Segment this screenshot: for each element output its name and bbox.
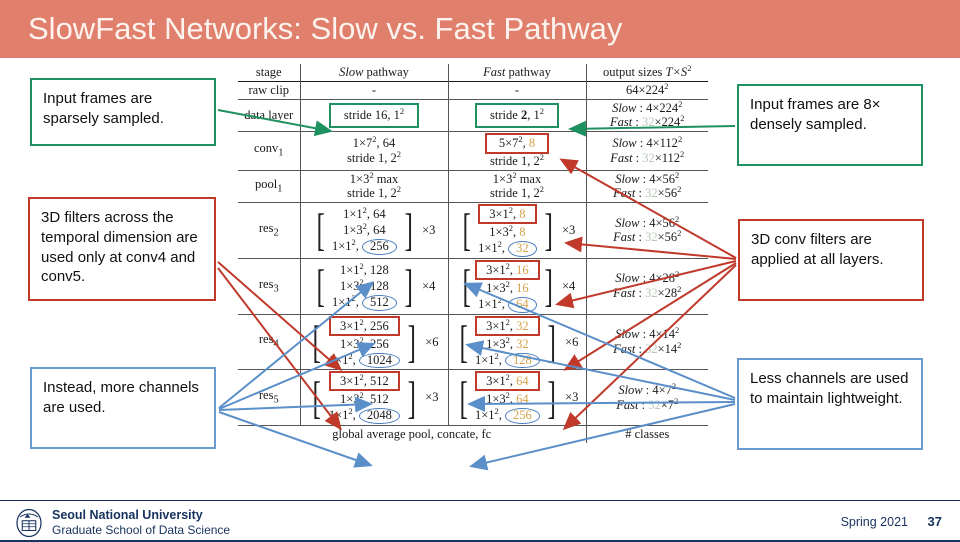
stage-label: res bbox=[259, 277, 274, 291]
stage-label: res bbox=[259, 221, 274, 235]
red-box-fast-first-line: 3×12, 16 bbox=[475, 260, 540, 280]
fast-block-line: 1×32, 32 bbox=[475, 336, 540, 352]
out-res3: Slow : 4×282Fast : 32×282 bbox=[586, 258, 708, 314]
fast-residual-block: [3×12, 641×32, 641×12, 256]×3 bbox=[451, 371, 584, 424]
slow-block-line: 1×12, 2048 bbox=[329, 407, 400, 424]
block-channels: 32 bbox=[516, 319, 529, 333]
fast-block-rows: 3×12, 81×32, 81×12, 32 bbox=[478, 204, 537, 257]
slow-residual-block: [3×12, 5121×32, 5121×12, 2048]×3 bbox=[303, 371, 446, 424]
fast-block-line: 1×32, 64 bbox=[475, 391, 540, 407]
fast-block-line: 1×32, 8 bbox=[478, 224, 537, 240]
slow-block-line: 1×12, 256 bbox=[332, 238, 397, 255]
fast-block-multiplier: ×6 bbox=[563, 335, 578, 350]
stage-res2: res2 bbox=[238, 203, 300, 259]
slow-block-line: 1×32, 256 bbox=[329, 336, 400, 352]
bracket-left-icon: [ bbox=[462, 268, 470, 304]
slow-res2: [1×12, 641×32, 641×12, 256]×3 bbox=[300, 203, 448, 259]
stage-subscript: 2 bbox=[273, 227, 278, 238]
green-box-slow-stride: stride 16, 12 bbox=[329, 103, 419, 128]
footer-university: Seoul National University bbox=[52, 508, 203, 522]
out-fast-line: Fast : 32×282 bbox=[589, 286, 707, 301]
block-channels: 64 bbox=[516, 374, 529, 388]
block-channels: 128 bbox=[370, 263, 389, 277]
fast-block-multiplier: ×3 bbox=[563, 390, 578, 405]
out-fast-line: Fast : 32×72 bbox=[589, 398, 707, 413]
callout-dense-sampling: Input frames are 8× densely sampled. bbox=[737, 84, 923, 166]
fast-residual-block: [3×12, 321×32, 321×12, 128]×6 bbox=[451, 316, 584, 369]
bracket-right-icon: ] bbox=[544, 268, 552, 304]
fast-res5: [3×12, 641×32, 641×12, 256]×3 bbox=[448, 370, 586, 426]
block-channels: 128 bbox=[370, 279, 389, 293]
fast-block-rows: 3×12, 321×32, 321×12, 128 bbox=[475, 316, 540, 369]
stage-subscript: 4 bbox=[273, 339, 278, 350]
slow-res5: [3×12, 5121×32, 5121×12, 2048]×3 bbox=[300, 370, 448, 426]
block-channels: 16 bbox=[516, 281, 529, 295]
stage-res5: res5 bbox=[238, 370, 300, 426]
slowfast-architecture-table: stage Slow pathway Fast pathway output s… bbox=[238, 64, 708, 443]
slow-raw-clip: - bbox=[300, 81, 448, 99]
slow-block-multiplier: ×3 bbox=[420, 223, 435, 238]
red-box-fast-first-line: 3×12, 8 bbox=[478, 204, 536, 224]
fast-residual-block: [3×12, 81×32, 81×12, 32]×3 bbox=[451, 204, 584, 257]
slow-res4: [3×12, 2561×32, 2561×12, 1024]×6 bbox=[300, 314, 448, 370]
out-slow-line: Slow : 4×142 bbox=[589, 327, 707, 342]
slow-block-line: 1×32, 64 bbox=[332, 222, 397, 238]
slow-block-rows: 1×12, 641×32, 641×12, 256 bbox=[332, 206, 397, 255]
fast-block-line: 1×12, 128 bbox=[475, 352, 540, 369]
out-fast-line: Fast : 32×562 bbox=[589, 230, 707, 245]
fast-residual-block: [3×12, 161×32, 161×12, 64]×4 bbox=[451, 260, 584, 313]
bracket-left-icon: [ bbox=[316, 268, 324, 304]
bracket-left-icon: [ bbox=[313, 324, 321, 360]
out-slow-line: Slow : 4×562 bbox=[589, 216, 707, 231]
fast-block-line: 3×12, 16 bbox=[478, 260, 537, 280]
channel-oval: 256 bbox=[505, 408, 540, 424]
fast-block-line: 3×12, 8 bbox=[478, 204, 537, 224]
bracket-right-icon: ] bbox=[544, 212, 552, 248]
fast-block-line: 1×32, 16 bbox=[478, 280, 537, 296]
red-box-slow-first-line: 3×12, 512 bbox=[329, 371, 400, 391]
table-row-conv1: conv1 1×72, 64 stride 1, 22 5×72, 8 stri… bbox=[238, 132, 708, 171]
slow-block-multiplier: ×3 bbox=[423, 390, 438, 405]
page-title: SlowFast Networks: Slow vs. Fast Pathway bbox=[0, 11, 622, 47]
table-row-res5: res5 [3×12, 5121×32, 5121×12, 2048]×3 [3… bbox=[238, 370, 708, 426]
bracket-left-icon: [ bbox=[459, 380, 467, 416]
callout-less-channels: Less channels are used to maintain light… bbox=[737, 358, 923, 450]
channel-oval: 128 bbox=[505, 353, 540, 369]
out-res2: Slow : 4×562Fast : 32×562 bbox=[586, 203, 708, 259]
fast-block-line: 1×12, 32 bbox=[478, 240, 537, 257]
block-channels: 64 bbox=[373, 207, 386, 221]
fast-res4: [3×12, 321×32, 321×12, 128]×6 bbox=[448, 314, 586, 370]
bracket-right-icon: ] bbox=[407, 324, 415, 360]
channel-oval: 32 bbox=[508, 241, 537, 257]
channel-oval: 2048 bbox=[359, 408, 400, 424]
stage-data-layer: data layer bbox=[238, 99, 300, 132]
red-box-slow-first-line: 3×12, 256 bbox=[329, 316, 400, 336]
stage-raw-clip: raw clip bbox=[238, 81, 300, 99]
stage-res3: res3 bbox=[238, 258, 300, 314]
fast-res2: [3×12, 81×32, 81×12, 32]×3 bbox=[448, 203, 586, 259]
footer-school: Graduate School of Data Science bbox=[52, 523, 230, 537]
table-row-raw-clip: raw clip - - 64×2242 bbox=[238, 81, 708, 99]
table-header-row: stage Slow pathway Fast pathway output s… bbox=[238, 64, 708, 81]
slow-conv1: 1×72, 64 stride 1, 22 bbox=[300, 132, 448, 171]
slide-footer: Seoul National University Graduate Schoo… bbox=[0, 500, 960, 542]
snu-logo-icon bbox=[14, 508, 44, 538]
slow-data-layer: stride 16, 12 bbox=[300, 99, 448, 132]
table-row-res3: res3 [1×12, 1281×32, 1281×12, 512]×4 [3×… bbox=[238, 258, 708, 314]
slow-res3: [1×12, 1281×32, 1281×12, 512]×4 bbox=[300, 258, 448, 314]
fast-block-line: 1×12, 64 bbox=[478, 296, 537, 313]
slow-residual-block: [3×12, 2561×32, 2561×12, 1024]×6 bbox=[303, 316, 446, 369]
slow-block-line: 1×32, 512 bbox=[329, 391, 400, 407]
bracket-left-icon: [ bbox=[462, 212, 470, 248]
slow-block-line: 3×12, 512 bbox=[329, 371, 400, 391]
footer-term: Spring 2021 bbox=[841, 515, 908, 529]
green-box-fast-stride: stride 2, 12 bbox=[475, 103, 559, 128]
callout-3d-conv-all-layers: 3D conv filters are applied at all layer… bbox=[738, 219, 924, 301]
block-channels: 32 bbox=[516, 337, 529, 351]
slide-title-bar: SlowFast Networks: Slow vs. Fast Pathway bbox=[0, 0, 960, 58]
stage-subscript: 3 bbox=[273, 283, 278, 294]
callout-3d-filters-temporal: 3D filters across the temporal dimension… bbox=[28, 197, 216, 301]
slow-block-line: 1×12, 128 bbox=[332, 262, 397, 278]
stage-res4: res4 bbox=[238, 314, 300, 370]
slow-block-rows: 3×12, 5121×32, 5121×12, 2048 bbox=[329, 371, 400, 424]
slow-block-line: 1×12, 1024 bbox=[329, 352, 400, 369]
header-fast: Fast pathway bbox=[448, 64, 586, 81]
channel-oval: 256 bbox=[362, 239, 397, 255]
slow-pool1: 1×32 max stride 1, 22 bbox=[300, 170, 448, 203]
bracket-right-icon: ] bbox=[407, 380, 415, 416]
out-pool1: Slow : 4×562 Fast : 32×562 bbox=[586, 170, 708, 203]
bracket-left-icon: [ bbox=[316, 212, 324, 248]
header-stage: stage bbox=[238, 64, 300, 81]
out-slow-line: Slow : 4×72 bbox=[589, 383, 707, 398]
bracket-left-icon: [ bbox=[313, 380, 321, 416]
fast-res3: [3×12, 161×32, 161×12, 64]×4 bbox=[448, 258, 586, 314]
channel-oval: 512 bbox=[362, 295, 397, 311]
fast-block-line: 1×12, 256 bbox=[475, 407, 540, 424]
block-channels: 8 bbox=[519, 207, 525, 221]
out-res5: Slow : 4×72Fast : 32×72 bbox=[586, 370, 708, 426]
stage-label: res bbox=[259, 332, 274, 346]
fast-raw-clip: - bbox=[448, 81, 586, 99]
table-row-summary: global average pool, concate, fc # class… bbox=[238, 426, 708, 443]
block-channels: 64 bbox=[516, 392, 529, 406]
slow-block-multiplier: ×6 bbox=[423, 335, 438, 350]
header-output: output sizes T×S2 bbox=[586, 64, 708, 81]
table-row-data-layer: data layer stride 16, 12 stride 2, 12 Sl… bbox=[238, 99, 708, 132]
block-channels: 256 bbox=[370, 319, 389, 333]
callout-sparse-sampling: Input frames are sparsely sampled. bbox=[30, 78, 216, 146]
bracket-right-icon: ] bbox=[547, 380, 555, 416]
block-channels: 8 bbox=[519, 225, 525, 239]
block-channels: 16 bbox=[516, 263, 529, 277]
bracket-left-icon: [ bbox=[459, 324, 467, 360]
out-conv1: Slow : 4×1122 Fast : 32×1122 bbox=[586, 132, 708, 171]
fast-block-line: 3×12, 64 bbox=[475, 371, 540, 391]
table-row-pool1: pool1 1×32 max stride 1, 22 1×32 max str… bbox=[238, 170, 708, 203]
out-data-layer: Slow : 4×2242 Fast : 32×2242 bbox=[586, 99, 708, 132]
slow-block-line: 1×12, 512 bbox=[332, 294, 397, 311]
stage-pool1: pool1 bbox=[238, 170, 300, 203]
block-channels: 512 bbox=[370, 392, 389, 406]
slow-block-multiplier: ×4 bbox=[420, 279, 435, 294]
channel-oval: 1024 bbox=[359, 353, 400, 369]
fast-data-layer: stride 2, 12 bbox=[448, 99, 586, 132]
block-channels: 256 bbox=[370, 337, 389, 351]
fast-pool1: 1×32 max stride 1, 22 bbox=[448, 170, 586, 203]
table-row-res4: res4 [3×12, 2561×32, 2561×12, 1024]×6 [3… bbox=[238, 314, 708, 370]
channel-oval: 64 bbox=[508, 297, 537, 313]
out-res4: Slow : 4×142Fast : 32×142 bbox=[586, 314, 708, 370]
summary-left: global average pool, concate, fc bbox=[238, 426, 586, 443]
slow-block-line: 1×12, 64 bbox=[332, 206, 397, 222]
callout-more-channels: Instead, more channels are used. bbox=[30, 367, 216, 449]
slow-residual-block: [1×12, 1281×32, 1281×12, 512]×4 bbox=[303, 262, 446, 311]
footer-page-number: 37 bbox=[928, 514, 942, 529]
slow-block-line: 1×32, 128 bbox=[332, 278, 397, 294]
fast-block-line: 3×12, 32 bbox=[475, 316, 540, 336]
fast-block-multiplier: ×4 bbox=[560, 279, 575, 294]
red-box-fast-first-line: 3×12, 32 bbox=[475, 316, 540, 336]
stage-subscript: 5 bbox=[273, 395, 278, 406]
out-slow-line: Slow : 4×282 bbox=[589, 271, 707, 286]
block-channels: 64 bbox=[373, 223, 386, 237]
fast-block-rows: 3×12, 641×32, 641×12, 256 bbox=[475, 371, 540, 424]
slow-block-rows: 1×12, 1281×32, 1281×12, 512 bbox=[332, 262, 397, 311]
header-slow: Slow pathway bbox=[300, 64, 448, 81]
fast-block-rows: 3×12, 161×32, 161×12, 64 bbox=[478, 260, 537, 313]
out-fast-line: Fast : 32×142 bbox=[589, 342, 707, 357]
bracket-right-icon: ] bbox=[547, 324, 555, 360]
bracket-right-icon: ] bbox=[404, 268, 412, 304]
slow-residual-block: [1×12, 641×32, 641×12, 256]×3 bbox=[303, 206, 446, 255]
slow-block-rows: 3×12, 2561×32, 2561×12, 1024 bbox=[329, 316, 400, 369]
slow-block-line: 3×12, 256 bbox=[329, 316, 400, 336]
red-box-fast-first-line: 3×12, 64 bbox=[475, 371, 540, 391]
stage-conv1: conv1 bbox=[238, 132, 300, 171]
summary-right: # classes bbox=[586, 426, 708, 443]
table-row-res2: res2 [1×12, 641×32, 641×12, 256]×3 [3×12… bbox=[238, 203, 708, 259]
bracket-right-icon: ] bbox=[404, 212, 412, 248]
block-channels: 512 bbox=[370, 374, 389, 388]
fast-conv1: 5×72, 8 stride 1, 22 bbox=[448, 132, 586, 171]
stage-label: res bbox=[259, 388, 274, 402]
fast-block-multiplier: ×3 bbox=[560, 223, 575, 238]
out-raw-clip: 64×2242 bbox=[586, 81, 708, 99]
